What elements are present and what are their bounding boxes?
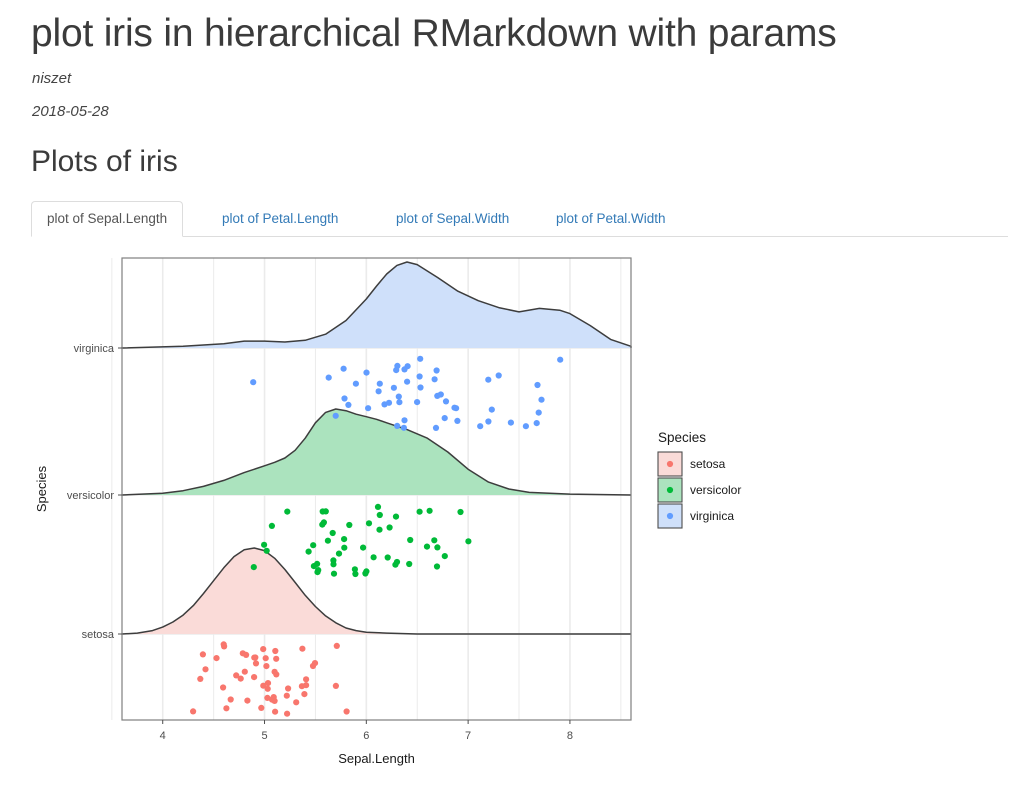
data-point-setosa [253, 660, 259, 666]
data-point-virginica [345, 402, 351, 408]
data-point-virginica [365, 405, 371, 411]
data-point-versicolor [319, 522, 325, 528]
data-point-setosa [233, 672, 239, 678]
data-point-setosa [258, 705, 264, 711]
data-point-setosa [299, 646, 305, 652]
data-point-virginica [496, 372, 502, 378]
data-point-virginica [333, 413, 339, 419]
data-point-setosa [334, 643, 340, 649]
data-point-virginica [353, 381, 359, 387]
data-point-setosa [312, 660, 318, 666]
legend-point-setosa [667, 461, 673, 467]
y-tick-label-versicolor: versicolor [67, 490, 114, 502]
data-point-versicolor [377, 512, 383, 518]
data-point-virginica [434, 367, 440, 373]
data-point-virginica [489, 407, 495, 413]
data-point-versicolor [362, 570, 368, 576]
data-point-versicolor [431, 537, 437, 543]
data-point-setosa [303, 682, 309, 688]
data-point-virginica [534, 420, 540, 426]
data-point-setosa [202, 666, 208, 672]
y-axis-title: Species [34, 465, 49, 512]
x-tick-label: 7 [465, 730, 471, 742]
data-point-versicolor [465, 538, 471, 544]
data-point-virginica [417, 356, 423, 362]
data-point-virginica [386, 400, 392, 406]
data-point-setosa [272, 669, 278, 675]
legend-point-versicolor [667, 487, 673, 493]
data-point-setosa [333, 683, 339, 689]
data-point-setosa [272, 709, 278, 715]
tab-bar: plot of Sepal.Length plot of Petal.Lengt… [31, 201, 1008, 237]
y-tick-label-setosa: setosa [82, 629, 115, 641]
data-point-versicolor [376, 527, 382, 533]
data-point-versicolor [424, 544, 430, 550]
data-point-virginica [363, 370, 369, 376]
data-point-virginica [414, 399, 420, 405]
data-point-virginica [396, 399, 402, 405]
data-point-versicolor [352, 571, 358, 577]
data-point-setosa [221, 641, 227, 647]
ridgeline-chart-svg: 45678Sepal.Lengthsetosaversicolorvirgini… [28, 246, 818, 766]
data-point-virginica [341, 366, 347, 372]
data-point-virginica [485, 418, 491, 424]
data-point-setosa [284, 711, 290, 717]
data-point-setosa [273, 656, 279, 662]
data-point-versicolor [366, 520, 372, 526]
rmarkdown-page: plot iris in hierarchical RMarkdown with… [0, 0, 1024, 801]
data-point-setosa [223, 705, 229, 711]
data-point-virginica [442, 415, 448, 421]
data-point-versicolor [360, 545, 366, 551]
tab-plot-sepal-width[interactable]: plot of Sepal.Width [381, 201, 524, 236]
data-point-setosa [244, 698, 250, 704]
document-author: niszet [32, 70, 71, 87]
data-point-versicolor [336, 551, 342, 557]
data-point-versicolor [306, 549, 312, 555]
data-point-setosa [260, 646, 266, 652]
data-point-setosa [264, 695, 270, 701]
x-tick-label: 4 [160, 730, 166, 742]
data-point-versicolor [269, 523, 275, 529]
data-point-setosa [200, 651, 206, 657]
data-point-virginica [401, 425, 407, 431]
data-point-virginica [534, 382, 540, 388]
data-point-versicolor [457, 509, 463, 515]
data-point-virginica [401, 417, 407, 423]
data-point-versicolor [407, 537, 413, 543]
data-point-versicolor [320, 508, 326, 514]
data-point-setosa [344, 708, 350, 714]
data-point-virginica [341, 395, 347, 401]
data-point-setosa [228, 696, 234, 702]
data-point-setosa [197, 676, 203, 682]
data-point-versicolor [442, 553, 448, 559]
data-point-versicolor [341, 545, 347, 551]
data-point-setosa [251, 674, 257, 680]
x-tick-label: 6 [363, 730, 369, 742]
data-point-virginica [396, 394, 402, 400]
data-point-virginica [477, 423, 483, 429]
legend-label-setosa: setosa [690, 457, 726, 471]
data-point-versicolor [341, 536, 347, 542]
data-point-versicolor [346, 522, 352, 528]
data-point-setosa [213, 655, 219, 661]
x-tick-label: 5 [261, 730, 267, 742]
data-point-virginica [401, 366, 407, 372]
data-point-virginica [417, 373, 423, 379]
data-point-versicolor [330, 530, 336, 536]
data-point-setosa [303, 676, 309, 682]
data-point-versicolor [331, 571, 337, 577]
document-date: 2018-05-28 [32, 103, 109, 120]
data-point-versicolor [385, 554, 391, 560]
tab-plot-petal-width[interactable]: plot of Petal.Width [541, 201, 681, 236]
data-point-virginica [538, 397, 544, 403]
y-tick-label-virginica: virginica [74, 343, 115, 355]
data-point-versicolor [387, 524, 393, 530]
data-point-versicolor [434, 544, 440, 550]
legend-point-virginica [667, 513, 673, 519]
data-point-virginica [453, 405, 459, 411]
data-point-versicolor [434, 563, 440, 569]
data-point-versicolor [330, 557, 336, 563]
data-point-versicolor [417, 509, 423, 515]
data-point-versicolor [264, 548, 270, 554]
data-point-virginica [377, 381, 383, 387]
legend-title: Species [658, 430, 706, 445]
data-point-versicolor [310, 542, 316, 548]
data-point-setosa [263, 663, 269, 669]
data-point-virginica [391, 385, 397, 391]
data-point-virginica [394, 423, 400, 429]
data-point-virginica [376, 388, 382, 394]
tab-plot-petal-length[interactable]: plot of Petal.Length [207, 201, 353, 236]
data-point-versicolor [371, 554, 377, 560]
data-point-versicolor [251, 564, 257, 570]
data-point-versicolor [375, 504, 381, 510]
data-point-virginica [557, 357, 563, 363]
data-point-versicolor [315, 567, 321, 573]
data-point-virginica [485, 377, 491, 383]
data-point-setosa [265, 686, 271, 692]
data-point-setosa [284, 693, 290, 699]
legend-label-virginica: virginica [690, 509, 734, 523]
data-point-versicolor [392, 562, 398, 568]
data-point-virginica [404, 379, 410, 385]
data-point-setosa [242, 669, 248, 675]
data-point-virginica [326, 375, 332, 381]
data-point-virginica [508, 420, 514, 426]
ridgeline-plot: 45678Sepal.Lengthsetosaversicolorvirgini… [28, 246, 818, 766]
data-point-setosa [285, 685, 291, 691]
data-point-virginica [438, 391, 444, 397]
data-point-setosa [272, 648, 278, 654]
data-point-virginica [393, 367, 399, 373]
data-point-setosa [263, 655, 269, 661]
data-point-setosa [190, 708, 196, 714]
data-point-virginica [250, 379, 256, 385]
data-point-versicolor [325, 538, 331, 544]
data-point-setosa [301, 691, 307, 697]
data-point-versicolor [284, 509, 290, 515]
data-point-versicolor [393, 514, 399, 520]
data-point-versicolor [406, 561, 412, 567]
data-point-versicolor [261, 542, 267, 548]
x-tick-label: 8 [567, 730, 573, 742]
data-point-setosa [240, 650, 246, 656]
data-point-virginica [443, 398, 449, 404]
x-axis-title: Sepal.Length [338, 751, 415, 766]
data-point-virginica [417, 384, 423, 390]
data-point-virginica [454, 418, 460, 424]
legend-label-versicolor: versicolor [690, 483, 741, 497]
section-heading: Plots of iris [31, 145, 178, 179]
data-point-setosa [251, 655, 257, 661]
data-point-virginica [536, 410, 542, 416]
data-point-virginica [523, 423, 529, 429]
page-title: plot iris in hierarchical RMarkdown with… [31, 12, 837, 57]
tab-plot-sepal-length[interactable]: plot of Sepal.Length [31, 201, 183, 237]
data-point-virginica [433, 425, 439, 431]
data-point-virginica [432, 376, 438, 382]
data-point-setosa [220, 684, 226, 690]
data-point-setosa [293, 699, 299, 705]
data-point-versicolor [427, 508, 433, 514]
